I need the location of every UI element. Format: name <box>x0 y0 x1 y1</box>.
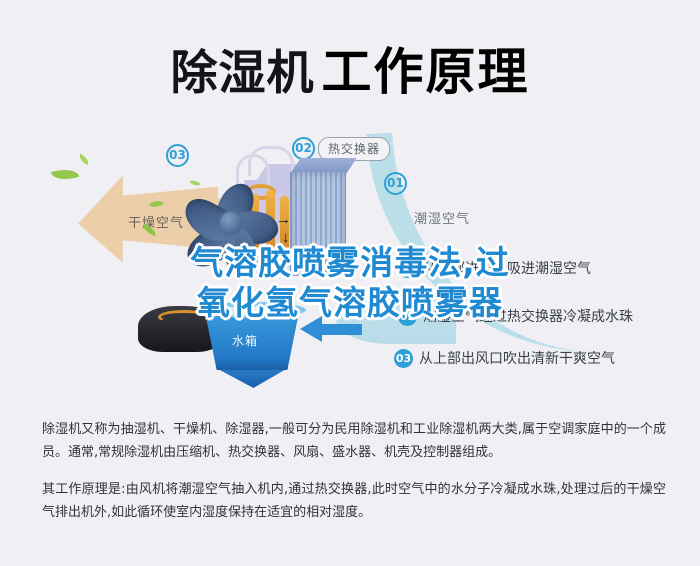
page-title-secondary: 工作原理 <box>322 43 530 101</box>
page-title: 除湿机工作原理 <box>0 32 700 104</box>
step-line-01: 01从下部进风口吸进潮湿空气 <box>398 258 591 278</box>
step-number-02: 02 <box>398 307 417 326</box>
step-line-02: 02潮湿空气经过热交换器冷凝成水珠 <box>398 306 633 326</box>
step-number-03: 03 <box>394 349 413 368</box>
page-title-primary: 除湿机 <box>171 46 315 101</box>
article-body: 除湿机又称为抽湿机、干燥机、除湿器,一般可分为民用除湿机和工业除湿机两大类,属于… <box>42 418 666 524</box>
step-text-03: 从上部出风口吹出清新干爽空气 <box>419 351 615 367</box>
diagram-step-list: 01从下部进风口吸进潮湿空气 02潮湿空气经过热交换器冷凝成水珠 03从上部出风… <box>0 120 700 395</box>
step-text-02: 潮湿空气经过热交换器冷凝成水珠 <box>423 309 633 325</box>
page-root: 除湿机工作原理 潮湿空气 干燥空气 03 02 01 热交换器 <box>0 0 700 566</box>
step-text-01: 从下部进风口吸进潮湿空气 <box>423 261 591 277</box>
article-paragraph-2: 其工作原理是:由风机将潮湿空气抽入机内,通过热交换器,此时空气中的水分子冷凝成水… <box>42 478 666 524</box>
step-line-03: 03从上部出风口吹出清新干爽空气 <box>394 348 615 368</box>
article-paragraph-1: 除湿机又称为抽湿机、干燥机、除湿器,一般可分为民用除湿机和工业除湿机两大类,属于… <box>42 418 666 464</box>
step-number-01: 01 <box>398 259 417 278</box>
